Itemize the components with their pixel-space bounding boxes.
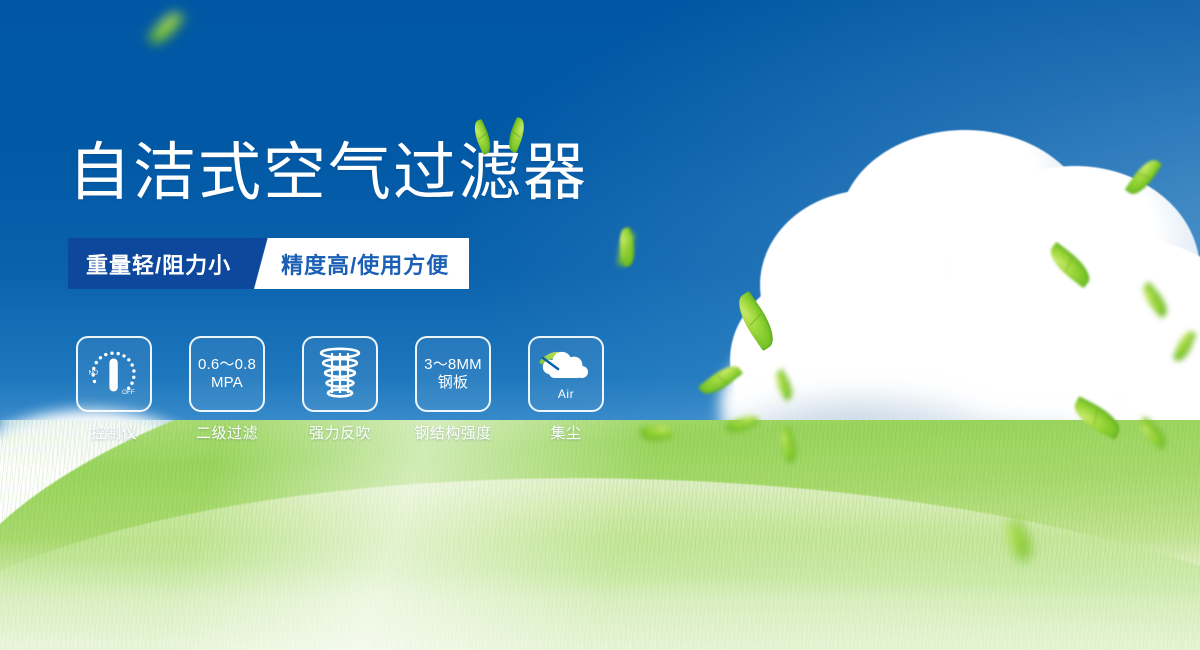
pressure-value: 0.6～0.8	[198, 356, 256, 373]
subtitle-divider	[249, 238, 275, 289]
coil-rings-icon	[312, 345, 368, 403]
pressure-unit: MPA	[198, 374, 256, 392]
subtitle-right-panel: 精度高/使用方便	[275, 238, 469, 289]
subtitle-left-panel: 重量轻/阻力小	[68, 238, 249, 289]
feature-box-dust: Air	[528, 336, 604, 412]
feature-box-control: NO OFF	[76, 336, 152, 412]
gauge-on-label: NO	[89, 370, 99, 377]
feature-item-filtration: 0.6～0.8 MPA 二级过滤	[187, 336, 267, 443]
feature-label-filtration: 二级过滤	[196, 422, 258, 443]
feature-label-blowback: 强力反吹	[309, 422, 371, 443]
gauge-icon: NO OFF	[84, 347, 144, 401]
feature-label-control: 控制仪	[91, 422, 138, 443]
steel-thickness: 3～8MM	[424, 356, 482, 373]
feature-item-steel: 3～8MM 钢板 钢结构强度	[413, 336, 493, 443]
feature-label-dust: 集尘	[550, 422, 581, 443]
feature-label-steel: 钢结构强度	[414, 422, 492, 443]
sprout-leaf-left	[470, 119, 496, 155]
steel-plate-text-icon: 3～8MM 钢板	[424, 356, 482, 392]
sprout-leaves-icon	[470, 112, 540, 168]
feature-box-filtration: 0.6～0.8 MPA	[189, 336, 265, 412]
steel-material: 钢板	[424, 374, 482, 392]
feature-list: NO OFF 控制仪 0.6～0.8 MPA 二级过滤	[74, 336, 606, 443]
sprout-leaf-right	[504, 117, 529, 153]
pressure-text-icon: 0.6～0.8 MPA	[198, 356, 256, 392]
product-banner: 自洁式空气过滤器 重量轻/阻力小 精度高/使用方便	[0, 0, 1200, 650]
subtitle-bar: 重量轻/阻力小 精度高/使用方便	[68, 238, 469, 289]
feature-item-blowback: 强力反吹	[300, 336, 380, 443]
feature-box-blowback	[302, 336, 378, 412]
cloud-air-icon	[537, 348, 595, 386]
feature-item-dust: Air 集尘	[526, 336, 606, 443]
air-label: Air	[558, 387, 574, 401]
feature-item-control: NO OFF 控制仪	[74, 336, 154, 443]
feature-box-steel: 3～8MM 钢板	[415, 336, 491, 412]
gauge-off-label: OFF	[122, 389, 135, 396]
